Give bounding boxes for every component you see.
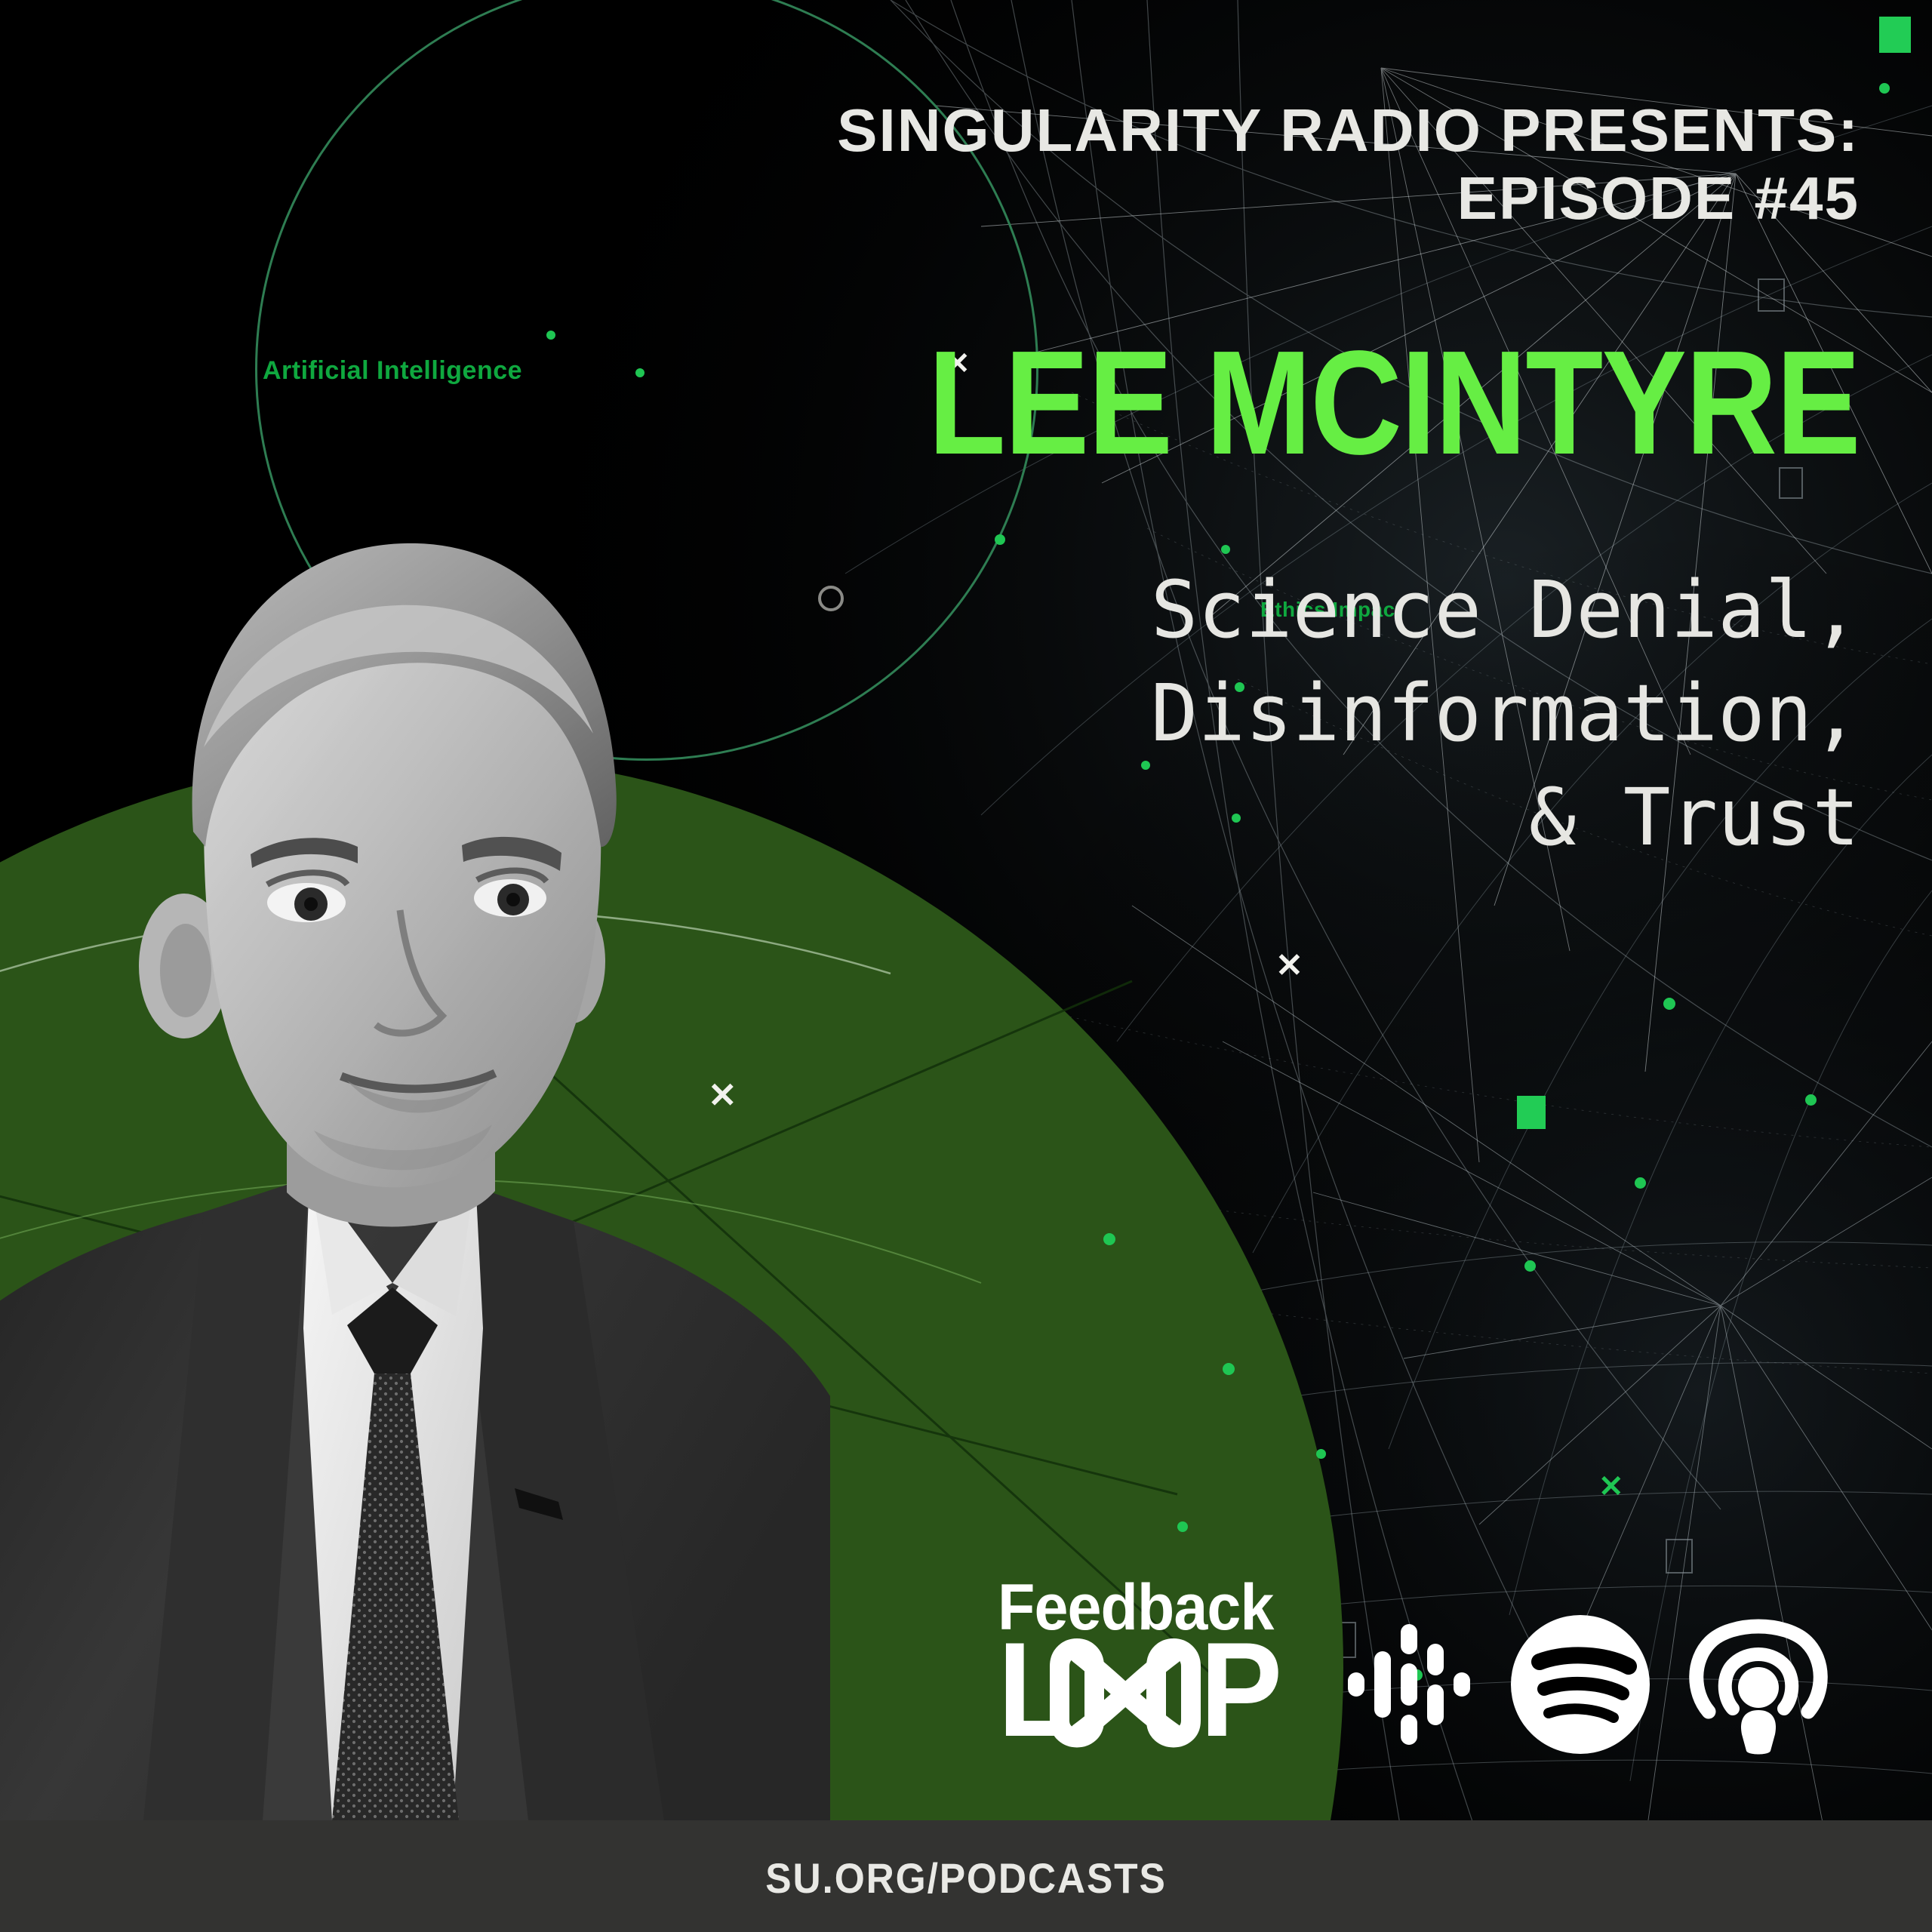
subtitle-line-2: Disinformation,: [577, 662, 1860, 765]
footer-url[interactable]: su.org/podcasts: [77, 1854, 1854, 1903]
logo-word-loop: L P: [998, 1642, 1284, 1772]
guest-name-title: Lee McIntyre: [756, 332, 1860, 474]
annotation-artificial-intelligence: Artificial Intelligence: [263, 356, 522, 386]
green-dot-marker: [995, 534, 1005, 545]
green-square-marker: [1879, 17, 1911, 53]
kicker-line-1: Singularity Radio Presents:: [622, 97, 1860, 165]
x-marker-icon: ✕: [1598, 1472, 1624, 1502]
green-dot-marker: [635, 368, 645, 377]
subtitle-line-1: Science Denial,: [577, 558, 1860, 662]
green-dot-marker: [546, 331, 555, 340]
feedback-loop-logo: Feedback L P: [998, 1576, 1284, 1772]
green-dot-marker: [1663, 998, 1675, 1010]
subtitle-line-3: & Trust: [577, 766, 1860, 869]
green-dot-marker: [1316, 1449, 1326, 1459]
episode-kicker: Singularity Radio Presents: Episode #45: [622, 97, 1860, 232]
episode-subtitle: Science Denial, Disinformation, & Trust: [577, 558, 1860, 869]
x-marker-icon: ✕: [1275, 949, 1303, 983]
podcast-cover-art: Artificial Intelligence Ethics Impact ✕ …: [0, 0, 1932, 1932]
green-dot-marker: [1177, 1521, 1188, 1532]
green-dot-marker: [1221, 545, 1230, 554]
green-dot-marker: [1524, 1260, 1536, 1272]
infinity-loop-icon: [1044, 1636, 1206, 1749]
green-dot-marker: [1879, 83, 1890, 94]
green-dot-marker: [1805, 1094, 1817, 1106]
green-dot-marker: [1223, 1363, 1235, 1375]
apple-podcasts-icon[interactable]: [1687, 1614, 1829, 1755]
logo-letter-p: P: [1200, 1623, 1280, 1757]
kicker-line-2: Episode #45: [622, 165, 1860, 232]
x-marker-icon: ✕: [708, 1078, 737, 1112]
google-podcasts-icon[interactable]: [1345, 1621, 1472, 1748]
green-dot-marker: [1103, 1233, 1115, 1245]
green-square-marker: [1517, 1096, 1546, 1129]
green-dot-marker: [1635, 1177, 1646, 1189]
footer-bar: su.org/podcasts: [0, 1820, 1932, 1932]
spotify-icon[interactable]: [1509, 1614, 1651, 1755]
